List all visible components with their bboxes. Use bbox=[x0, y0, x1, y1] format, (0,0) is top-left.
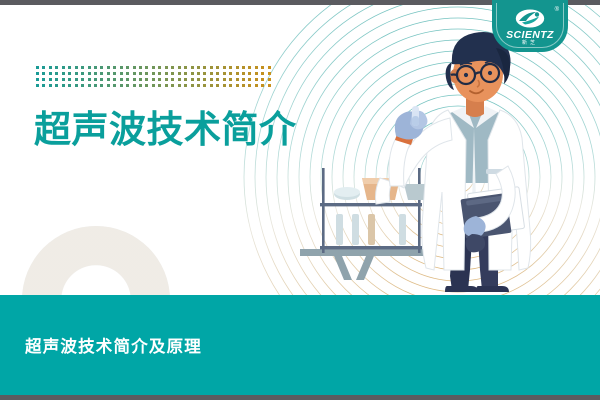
dot-grid-dot bbox=[158, 78, 161, 81]
dot-grid-dot bbox=[255, 78, 258, 81]
dot-grid-dot bbox=[88, 84, 91, 87]
dot-grid-dot bbox=[62, 84, 65, 87]
dot-grid-dot bbox=[145, 78, 148, 81]
dot-grid-dot bbox=[210, 72, 213, 75]
dot-grid-dot bbox=[248, 66, 251, 69]
dot-grid-dot bbox=[171, 84, 174, 87]
dot-grid-dot bbox=[75, 72, 78, 75]
dot-grid-dot bbox=[152, 66, 155, 69]
dot-grid-dot bbox=[68, 84, 71, 87]
dot-grid-dot bbox=[62, 72, 65, 75]
dot-grid-dot bbox=[229, 84, 232, 87]
dot-grid-dot bbox=[158, 72, 161, 75]
dot-grid-dot bbox=[36, 78, 39, 81]
dot-grid-dot bbox=[145, 84, 148, 87]
window-bottom-bar bbox=[0, 395, 600, 400]
dot-grid-dot bbox=[68, 78, 71, 81]
dot-grid-dot bbox=[255, 84, 258, 87]
dot-grid-dot bbox=[49, 84, 52, 87]
dot-grid-dot bbox=[55, 66, 58, 69]
dot-grid-dot bbox=[126, 72, 129, 75]
dot-grid-dot bbox=[165, 66, 168, 69]
dot-grid-dot bbox=[191, 72, 194, 75]
dot-grid-dot bbox=[133, 78, 136, 81]
dot-grid-dot bbox=[184, 78, 187, 81]
dot-grid-dot bbox=[42, 78, 45, 81]
dot-grid-dot bbox=[236, 72, 239, 75]
dot-grid-dot bbox=[171, 72, 174, 75]
scientz-swoosh-icon bbox=[515, 9, 545, 28]
dot-grid-dot bbox=[223, 66, 226, 69]
dot-grid-dot bbox=[261, 78, 264, 81]
dot-grid-dot bbox=[171, 78, 174, 81]
dot-grid-dot bbox=[100, 72, 103, 75]
dot-grid-dot bbox=[81, 78, 84, 81]
dot-grid-dot bbox=[203, 66, 206, 69]
dot-grid-dot bbox=[100, 84, 103, 87]
dot-grid-dot bbox=[36, 66, 39, 69]
dot-grid-dot bbox=[268, 84, 271, 87]
lab-cart bbox=[300, 168, 428, 280]
dot-grid-dot bbox=[81, 84, 84, 87]
dot-grid-dot bbox=[88, 66, 91, 69]
dot-grid-dot bbox=[145, 66, 148, 69]
registered-trademark-icon: ® bbox=[555, 7, 559, 13]
dot-grid-dot bbox=[197, 84, 200, 87]
dot-grid-dot bbox=[133, 84, 136, 87]
dot-grid-dot bbox=[171, 66, 174, 69]
dot-grid-dot bbox=[216, 84, 219, 87]
dot-grid-dot bbox=[55, 72, 58, 75]
dot-grid-dot bbox=[126, 66, 129, 69]
dot-grid-dot bbox=[94, 84, 97, 87]
scientist-illustration bbox=[300, 18, 600, 308]
dot-grid-dot bbox=[203, 78, 206, 81]
dot-grid-row bbox=[36, 84, 274, 90]
dot-grid-dot bbox=[75, 84, 78, 87]
dot-grid-dot bbox=[197, 72, 200, 75]
test-tube bbox=[412, 106, 419, 126]
dot-grid-dot bbox=[184, 72, 187, 75]
dot-grid-dot bbox=[139, 72, 142, 75]
dot-grid-dot bbox=[75, 78, 78, 81]
dot-grid-dot bbox=[165, 72, 168, 75]
dot-grid-dot bbox=[42, 72, 45, 75]
dot-grid-dot bbox=[36, 84, 39, 87]
dot-grid-dot bbox=[191, 66, 194, 69]
dot-grid-dot bbox=[120, 66, 123, 69]
dot-grid-dot bbox=[120, 78, 123, 81]
dot-grid-dot bbox=[165, 84, 168, 87]
dot-grid-dot bbox=[152, 84, 155, 87]
dot-grid-dot bbox=[255, 72, 258, 75]
dot-grid-dot bbox=[236, 66, 239, 69]
dot-grid-dot bbox=[248, 72, 251, 75]
dot-grid-dot bbox=[242, 84, 245, 87]
dot-grid-dot bbox=[68, 66, 71, 69]
dot-grid-dot bbox=[145, 72, 148, 75]
dot-grid-dot bbox=[229, 66, 232, 69]
dot-grid-dot bbox=[62, 66, 65, 69]
dot-grid-dot bbox=[210, 78, 213, 81]
dot-grid-dot bbox=[68, 72, 71, 75]
dot-grid-dot bbox=[178, 72, 181, 75]
dot-grid-dot bbox=[49, 72, 52, 75]
banner-subtitle: 超声波技术简介及原理 bbox=[25, 333, 202, 357]
dot-grid-dot bbox=[126, 84, 129, 87]
dot-grid-dot bbox=[216, 66, 219, 69]
page-title: 超声波技术简介 bbox=[34, 99, 297, 153]
dot-grid-dot bbox=[94, 72, 97, 75]
dot-grid-dot bbox=[236, 78, 239, 81]
dot-grid-dot bbox=[94, 78, 97, 81]
bottom-banner: 超声波技术简介及原理 bbox=[0, 295, 600, 395]
dot-grid-dot bbox=[42, 84, 45, 87]
dot-grid-dot bbox=[184, 84, 187, 87]
dot-grid-dot bbox=[120, 84, 123, 87]
dot-grid-dot bbox=[107, 84, 110, 87]
dot-grid-dot bbox=[261, 72, 264, 75]
dot-grid-dot bbox=[113, 66, 116, 69]
dot-grid-dot bbox=[81, 66, 84, 69]
brand-logo: ® SCIENTZ 新芝 bbox=[492, 0, 568, 52]
dot-grid-dot bbox=[268, 66, 271, 69]
dot-grid-dot bbox=[197, 78, 200, 81]
dot-grid-dot bbox=[229, 72, 232, 75]
dot-grid-dot bbox=[248, 84, 251, 87]
dot-grid-dot bbox=[42, 66, 45, 69]
dot-grid-dot bbox=[152, 72, 155, 75]
dot-grid-dot bbox=[216, 72, 219, 75]
dot-grid-dot bbox=[261, 84, 264, 87]
dot-grid-dot bbox=[100, 66, 103, 69]
dot-grid-dot bbox=[152, 78, 155, 81]
dot-grid-decoration bbox=[36, 66, 274, 90]
dot-grid-dot bbox=[133, 72, 136, 75]
dot-grid-dot bbox=[107, 78, 110, 81]
dot-grid-dot bbox=[158, 66, 161, 69]
dot-grid-dot bbox=[236, 84, 239, 87]
dot-grid-dot bbox=[120, 72, 123, 75]
dot-grid-dot bbox=[139, 66, 142, 69]
dot-grid-dot bbox=[268, 72, 271, 75]
dot-grid-dot bbox=[126, 78, 129, 81]
dot-grid-dot bbox=[107, 72, 110, 75]
dot-grid-dot bbox=[242, 72, 245, 75]
dot-grid-dot bbox=[107, 66, 110, 69]
dot-grid-dot bbox=[216, 78, 219, 81]
dot-grid-dot bbox=[113, 84, 116, 87]
dot-grid-dot bbox=[191, 84, 194, 87]
dot-grid-dot bbox=[242, 66, 245, 69]
dot-grid-dot bbox=[261, 66, 264, 69]
dot-grid-dot bbox=[139, 84, 142, 87]
dot-grid-dot bbox=[113, 72, 116, 75]
dot-grid-dot bbox=[158, 84, 161, 87]
dot-grid-dot bbox=[165, 78, 168, 81]
dot-grid-dot bbox=[242, 78, 245, 81]
dot-grid-dot bbox=[36, 72, 39, 75]
dot-grid-dot bbox=[268, 78, 271, 81]
dot-grid-dot bbox=[49, 66, 52, 69]
dot-grid-dot bbox=[210, 66, 213, 69]
dot-grid-dot bbox=[133, 66, 136, 69]
dot-grid-dot bbox=[210, 84, 213, 87]
dot-grid-dot bbox=[49, 78, 52, 81]
dot-grid-dot bbox=[62, 78, 65, 81]
dot-grid-dot bbox=[55, 84, 58, 87]
dot-grid-dot bbox=[88, 78, 91, 81]
dot-grid-dot bbox=[223, 72, 226, 75]
dot-grid-dot bbox=[203, 84, 206, 87]
presentation-slide: 超声波技术简介 bbox=[0, 0, 600, 400]
dot-grid-dot bbox=[197, 66, 200, 69]
dot-grid-dot bbox=[223, 78, 226, 81]
dot-grid-dot bbox=[113, 78, 116, 81]
dot-grid-dot bbox=[81, 72, 84, 75]
dot-grid-dot bbox=[178, 78, 181, 81]
dot-grid-dot bbox=[255, 66, 258, 69]
dot-grid-dot bbox=[94, 66, 97, 69]
dot-grid-dot bbox=[55, 78, 58, 81]
logo-chinese-name: 新芝 bbox=[492, 39, 568, 46]
dot-grid-dot bbox=[178, 66, 181, 69]
dot-grid-dot bbox=[75, 66, 78, 69]
dot-grid-dot bbox=[184, 66, 187, 69]
dot-grid-dot bbox=[223, 84, 226, 87]
dot-grid-dot bbox=[178, 84, 181, 87]
dot-grid-dot bbox=[88, 72, 91, 75]
dot-grid-dot bbox=[248, 78, 251, 81]
dot-grid-dot bbox=[203, 72, 206, 75]
dot-grid-dot bbox=[229, 78, 232, 81]
dot-grid-dot bbox=[139, 78, 142, 81]
dot-grid-dot bbox=[191, 78, 194, 81]
dot-grid-dot bbox=[100, 78, 103, 81]
